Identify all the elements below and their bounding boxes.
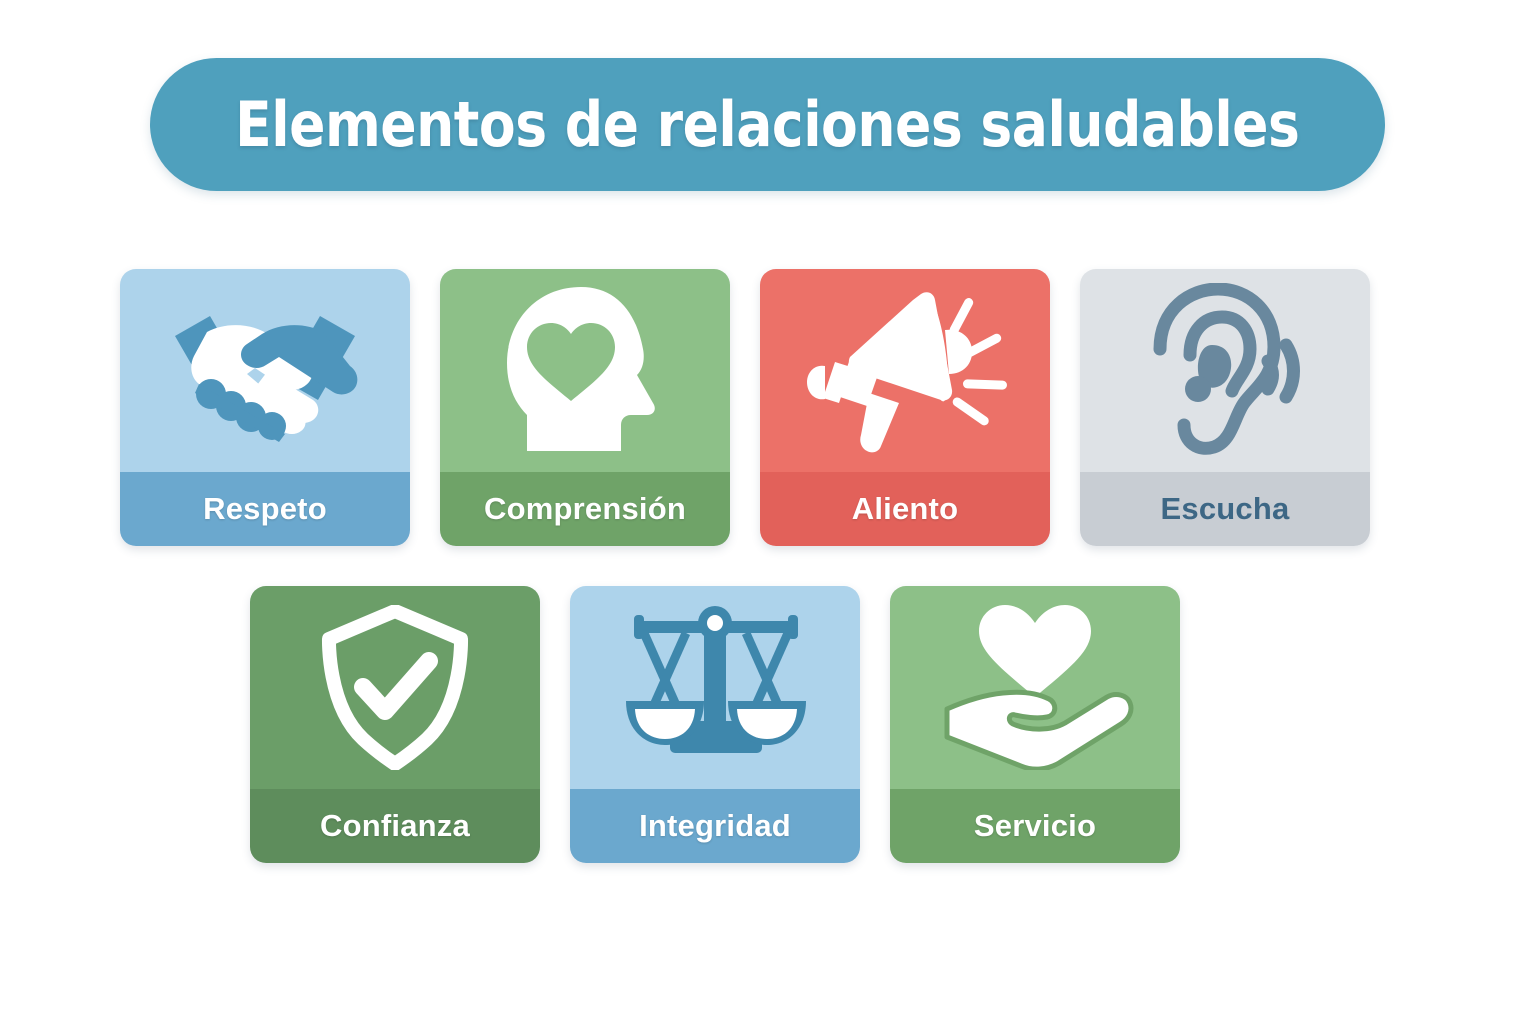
card-comprension-icon-area [440, 269, 730, 472]
card-integridad[interactable]: Integridad [570, 586, 860, 863]
card-integridad-label: Integridad [570, 789, 860, 863]
megaphone-icon [795, 286, 1015, 456]
shield-check-icon [315, 605, 475, 770]
card-comprension[interactable]: Comprensión [440, 269, 730, 546]
card-row-top: Respeto Comprensión [120, 269, 1370, 546]
card-escucha-icon-area [1080, 269, 1370, 472]
card-row-bottom: Confianza [250, 586, 1180, 863]
card-respeto-label: Respeto [120, 472, 410, 546]
card-respeto[interactable]: Respeto [120, 269, 410, 546]
head-with-heart-icon [495, 283, 675, 458]
hand-holding-heart-icon [935, 605, 1135, 770]
card-servicio-icon-area [890, 586, 1180, 789]
card-respeto-icon-area [120, 269, 410, 472]
ear-listening-icon [1138, 283, 1313, 458]
card-aliento-label: Aliento [760, 472, 1050, 546]
handshake-icon [155, 296, 375, 446]
card-confianza-icon-area [250, 586, 540, 789]
card-servicio[interactable]: Servicio [890, 586, 1180, 863]
title-banner: Elementos de relaciones saludables [150, 58, 1385, 191]
page-title: Elementos de relaciones saludables [235, 94, 1299, 156]
card-comprension-label: Comprensión [440, 472, 730, 546]
infographic-canvas: Elementos de relaciones saludables [0, 0, 1536, 1024]
card-aliento[interactable]: Aliento [760, 269, 1050, 546]
card-confianza[interactable]: Confianza [250, 586, 540, 863]
card-aliento-icon-area [760, 269, 1050, 472]
card-escucha[interactable]: Escucha [1080, 269, 1370, 546]
card-escucha-label: Escucha [1080, 472, 1370, 546]
balance-scales-icon [618, 605, 813, 770]
card-confianza-label: Confianza [250, 789, 540, 863]
card-servicio-label: Servicio [890, 789, 1180, 863]
card-integridad-icon-area [570, 586, 860, 789]
